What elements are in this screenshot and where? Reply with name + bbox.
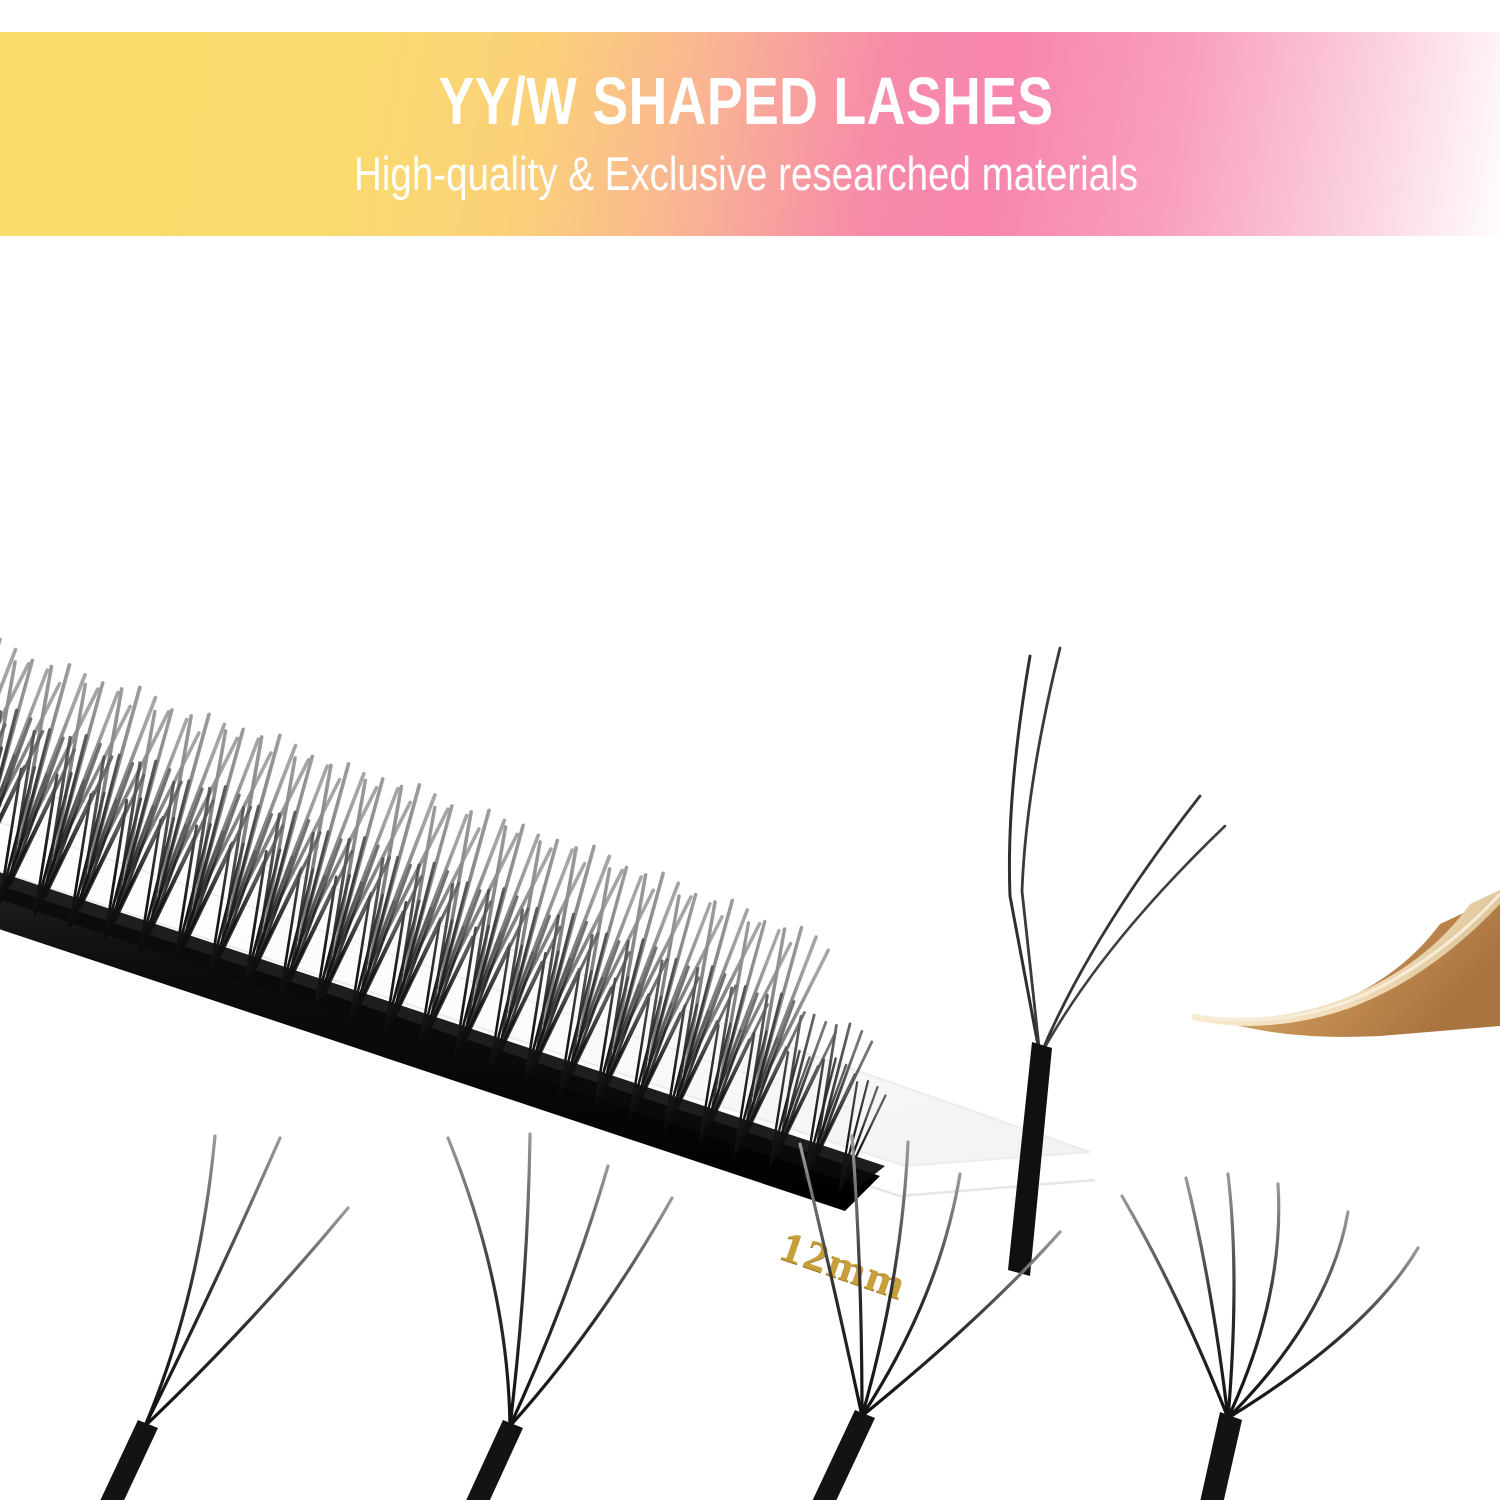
header-banner: YY/W SHAPED LASHES High-quality & Exclus…	[0, 32, 1500, 236]
fan-sample-2	[448, 1134, 672, 1500]
banner-text-block: YY/W SHAPED LASHES High-quality & Exclus…	[0, 66, 1496, 202]
fan-sample-1	[92, 1136, 348, 1500]
fan-samples-row	[0, 236, 1500, 1500]
product-photo: 12mm	[0, 236, 1500, 1500]
page-title: YY/W SHAPED LASHES	[146, 66, 1346, 138]
page-subtitle: High-quality & Exclusive researched mate…	[131, 145, 1361, 202]
fan-sample-4	[1122, 1174, 1418, 1500]
fan-sample-3	[800, 1136, 1060, 1500]
